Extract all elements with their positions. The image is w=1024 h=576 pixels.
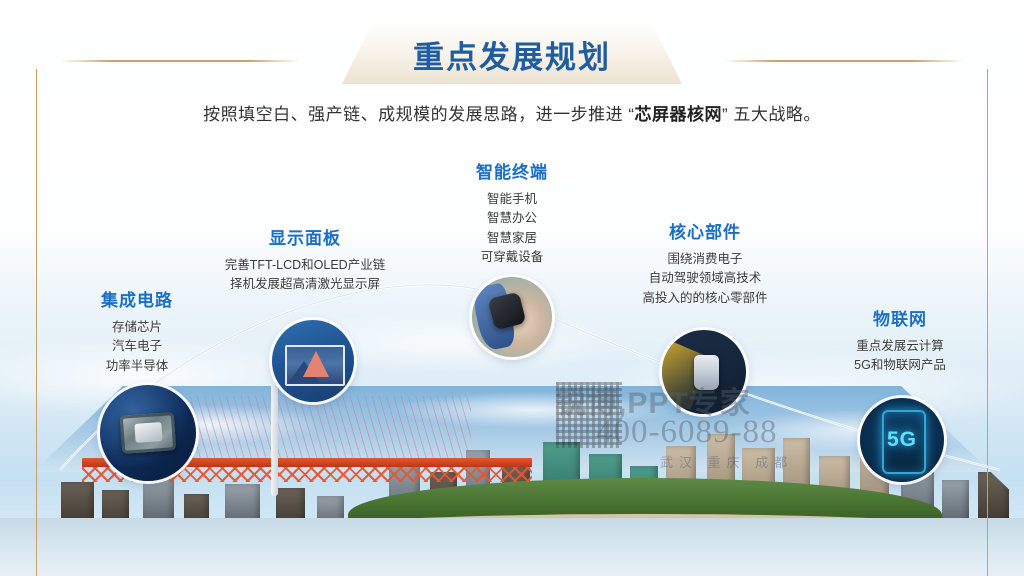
river [0, 518, 1024, 576]
autonomous-car-illustration [662, 330, 746, 414]
smartwatch-icon[interactable] [472, 277, 552, 357]
pillar-line: 智能手机 [412, 190, 612, 209]
pillar-integrated-circuit[interactable]: 集成电路 存储芯片 汽车电子 功率半导体 [52, 286, 222, 376]
subtitle-prefix: 按照填空白、强产链、成规模的发展思路，进一步推进 “ [203, 105, 634, 124]
title-banner-group: 重点发展规划 [0, 22, 1024, 84]
pillar-lines: 存储芯片 汽车电子 功率半导体 [52, 318, 222, 376]
pillar-title: 显示面板 [178, 224, 432, 249]
pillar-lines: 完善TFT-LCD和OLED产业链 择机发展超高清激光显示屏 [178, 256, 432, 295]
slide-canvas: 重点发展规划 按照填空白、强产链、成规模的发展思路，进一步推进 “芯屏器核网” … [0, 0, 1024, 576]
display-panel-illustration [272, 320, 354, 402]
five-g-illustration: 5G [860, 398, 944, 482]
pillar-lines: 智能手机 智慧办公 智慧家居 可穿戴设备 [412, 190, 612, 268]
pillar-line: 重点发展云计算 [800, 337, 1000, 356]
pillar-line: 5G和物联网产品 [800, 356, 1000, 375]
pillar-line: 完善TFT-LCD和OLED产业链 [178, 256, 432, 275]
chip-icon[interactable] [100, 385, 196, 481]
pillar-line: 高投入的的核心零部件 [592, 289, 818, 308]
pillar-line: 功率半导体 [52, 357, 222, 376]
pillar-iot[interactable]: 物联网 重点发展云计算 5G和物联网产品 [800, 305, 1000, 376]
pillar-line: 智慧办公 [412, 209, 612, 228]
bridge-cables [164, 396, 471, 460]
five-g-label: 5G [860, 428, 944, 452]
pillar-title: 智能终端 [412, 158, 612, 183]
pillar-core-components[interactable]: 核心部件 围绕消费电子 自动驾驶领域高技术 高投入的的核心零部件 [592, 218, 818, 308]
pillar-title: 物联网 [800, 305, 1000, 330]
pillar-display-panel[interactable]: 显示面板 完善TFT-LCD和OLED产业链 择机发展超高清激光显示屏 [178, 224, 432, 295]
pillar-line: 可穿戴设备 [412, 248, 612, 267]
mountain-peak-shape [303, 351, 329, 377]
pillar-line: 自动驾驶领域高技术 [592, 269, 818, 288]
subtitle-suffix: ” 五大战略。 [722, 105, 821, 124]
pillar-title: 核心部件 [592, 218, 818, 243]
title-rule-right [724, 60, 964, 62]
page-title: 重点发展规划 [413, 32, 611, 77]
pillar-lines: 重点发展云计算 5G和物联网产品 [800, 337, 1000, 376]
pillar-line: 围绕消费电子 [592, 250, 818, 269]
display-panel-icon[interactable] [272, 320, 354, 402]
headlight-beam [662, 335, 709, 409]
pillar-line: 汽车电子 [52, 337, 222, 356]
chip-illustration [100, 385, 196, 481]
bridge-pylon [271, 386, 278, 496]
pillar-line: 存储芯片 [52, 318, 222, 337]
pillar-smart-terminal[interactable]: 智能终端 智能手机 智慧办公 智慧家居 可穿戴设备 [412, 158, 612, 268]
subtitle-emphasis: 芯屏器核网 [635, 105, 723, 124]
page-subtitle: 按照填空白、强产链、成规模的发展思路，进一步推进 “芯屏器核网” 五大战略。 [0, 100, 1024, 125]
five-g-icon[interactable]: 5G [860, 398, 944, 482]
autonomous-car-icon[interactable] [662, 330, 746, 414]
smartwatch-illustration [472, 277, 552, 357]
pillar-line: 择机发展超高清激光显示屏 [178, 275, 432, 294]
pillar-lines: 围绕消费电子 自动驾驶领域高技术 高投入的的核心零部件 [592, 250, 818, 308]
title-rule-left [60, 60, 300, 62]
pillar-line: 智慧家居 [412, 229, 612, 248]
